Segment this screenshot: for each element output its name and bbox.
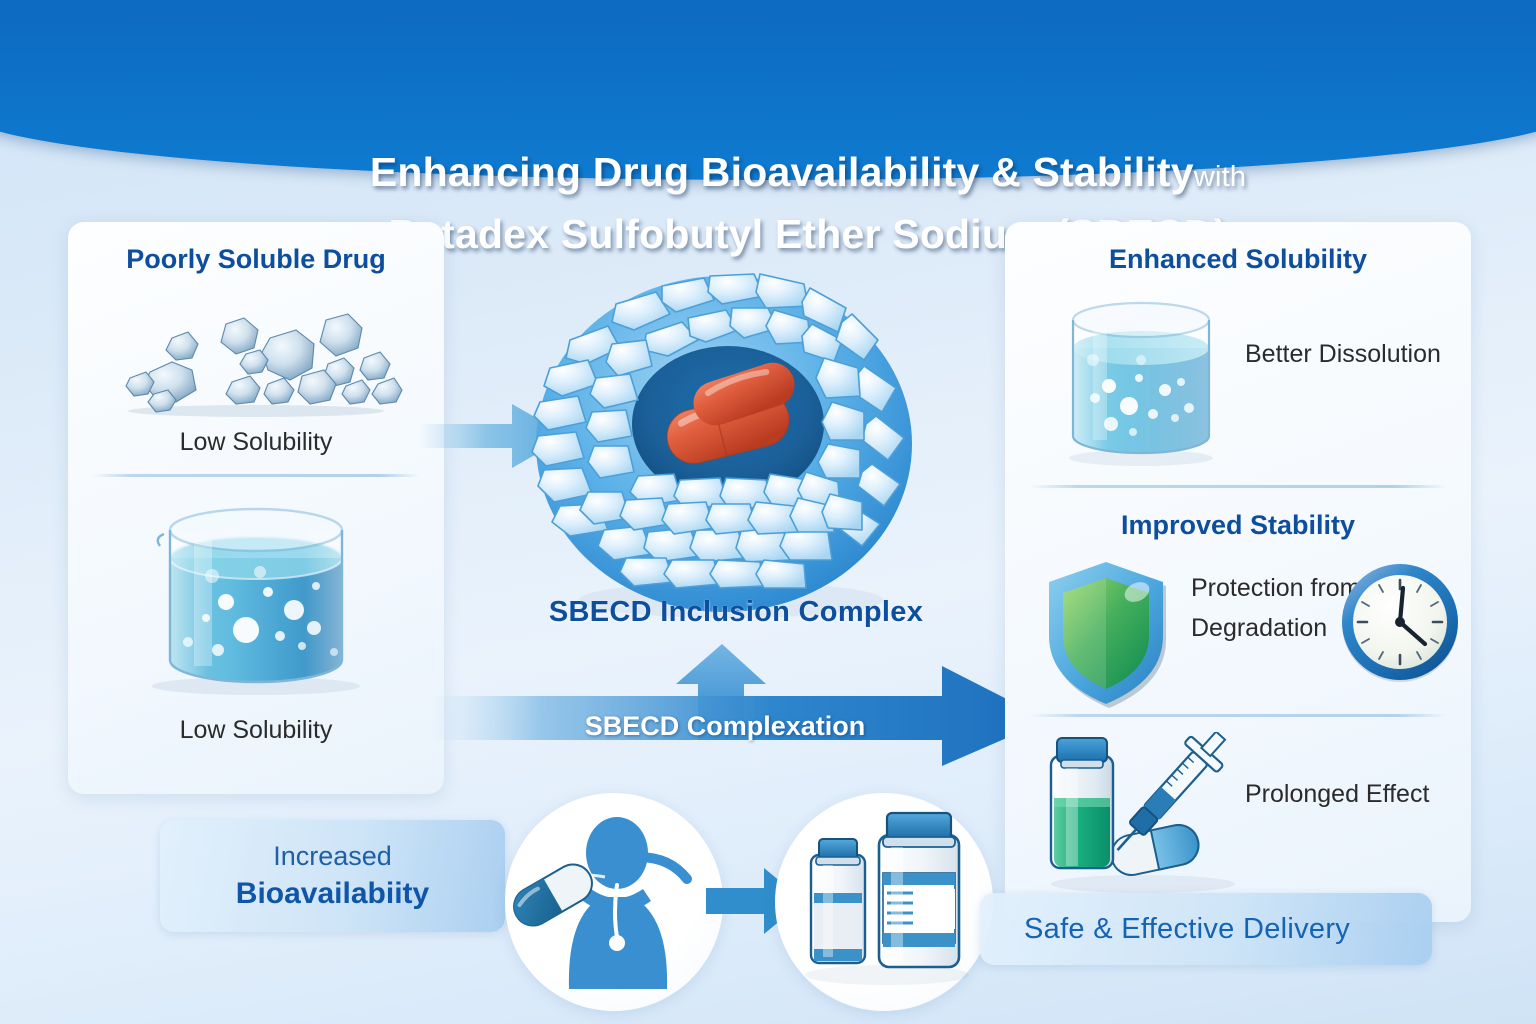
increased-bioavailability-text: Increased Bioavailabiity (160, 820, 505, 932)
bioavailability-line-2: Bioavailabiity (236, 874, 429, 914)
safe-effective-delivery-banner: Safe & Effective Delivery (980, 893, 1432, 965)
enhanced-solubility-title: Enhanced Solubility (1005, 244, 1471, 275)
clock-icon (1335, 558, 1465, 688)
person-with-capsule-icon (505, 793, 723, 1011)
prolonged-effect-label: Prolonged Effect (1245, 774, 1435, 814)
vial-syringe-capsule-icon (1033, 732, 1263, 902)
better-dissolution-label: Better Dissolution (1245, 334, 1455, 374)
complex-label: SBECD Inclusion Complex (486, 596, 986, 629)
shield-icon (1041, 558, 1171, 708)
improved-stability-title: Improved Stability (1005, 510, 1471, 541)
page-title-with: with (1194, 161, 1246, 193)
bioavailability-line-1: Increased (273, 838, 392, 874)
beaker-icon (1041, 286, 1241, 476)
drug-crystals-icon (68, 294, 444, 422)
sbecd-complexation-arrow (430, 640, 1050, 770)
left-panel-divider (92, 474, 420, 477)
poorly-soluble-drug-panel: Poorly Soluble Drug (68, 222, 444, 794)
infographic-canvas: Enhancing Drug Bioavailability & Stabili… (0, 0, 1536, 1024)
benefits-panel: Enhanced Solubility (1005, 222, 1471, 922)
page-title-line-1: Enhancing Drug Bioavailability & Stabili… (370, 144, 1246, 205)
page-title-main: Enhancing Drug Bioavailability & Stabili… (370, 149, 1194, 195)
left-item-2-label: Low Solubility (68, 716, 444, 745)
benefits-divider-2 (1029, 714, 1447, 717)
left-panel-title: Poorly Soluble Drug (68, 244, 444, 275)
medicine-vials-icon (775, 793, 993, 1011)
left-item-1-label: Low Solubility (68, 428, 444, 457)
benefits-divider-1 (1029, 485, 1447, 488)
safe-effective-delivery-label: Safe & Effective Delivery (1024, 913, 1350, 946)
beaker-icon (68, 490, 444, 710)
sbecd-inclusion-complex-icon (516, 248, 946, 648)
